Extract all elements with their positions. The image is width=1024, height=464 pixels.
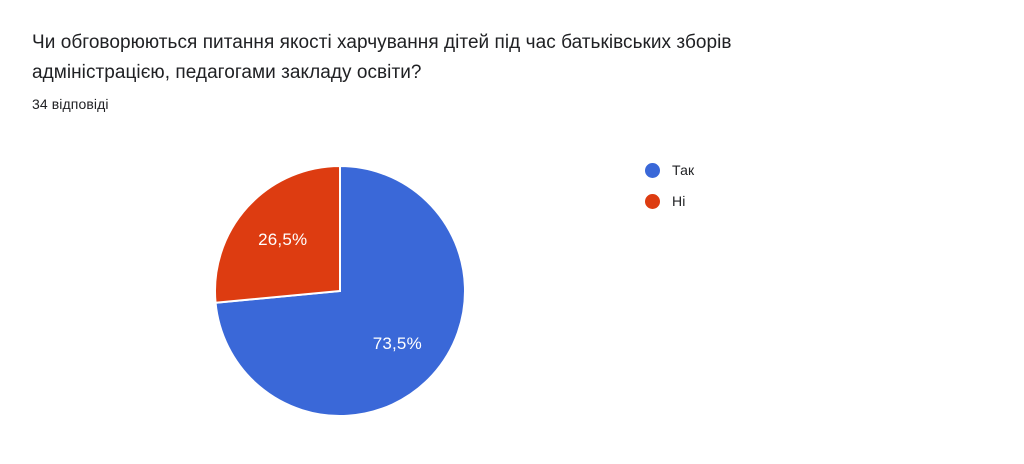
pie-slice-label-ni: 26,5% — [258, 230, 307, 249]
legend-item-tak[interactable]: Так — [645, 162, 694, 178]
page-title: Чи обговорюються питання якості харчуван… — [32, 28, 732, 88]
pie-chart-svg: 73,5% 26,5% — [215, 166, 465, 416]
circle-marker-icon — [645, 163, 660, 178]
legend-label-ni: Ні — [672, 193, 686, 209]
legend-item-ni[interactable]: Ні — [645, 193, 694, 209]
pie-chart: 73,5% 26,5% — [215, 166, 465, 416]
chart-legend: Так Ні — [645, 162, 694, 209]
legend-label-tak: Так — [672, 162, 694, 178]
question-block: Чи обговорюються питання якості харчуван… — [32, 28, 732, 114]
pie-slice-label-tak: 73,5% — [373, 334, 422, 353]
response-count: 34 відповіді — [32, 94, 732, 114]
circle-marker-icon — [645, 194, 660, 209]
chart-area: 73,5% 26,5% Так Ні — [0, 140, 1024, 450]
